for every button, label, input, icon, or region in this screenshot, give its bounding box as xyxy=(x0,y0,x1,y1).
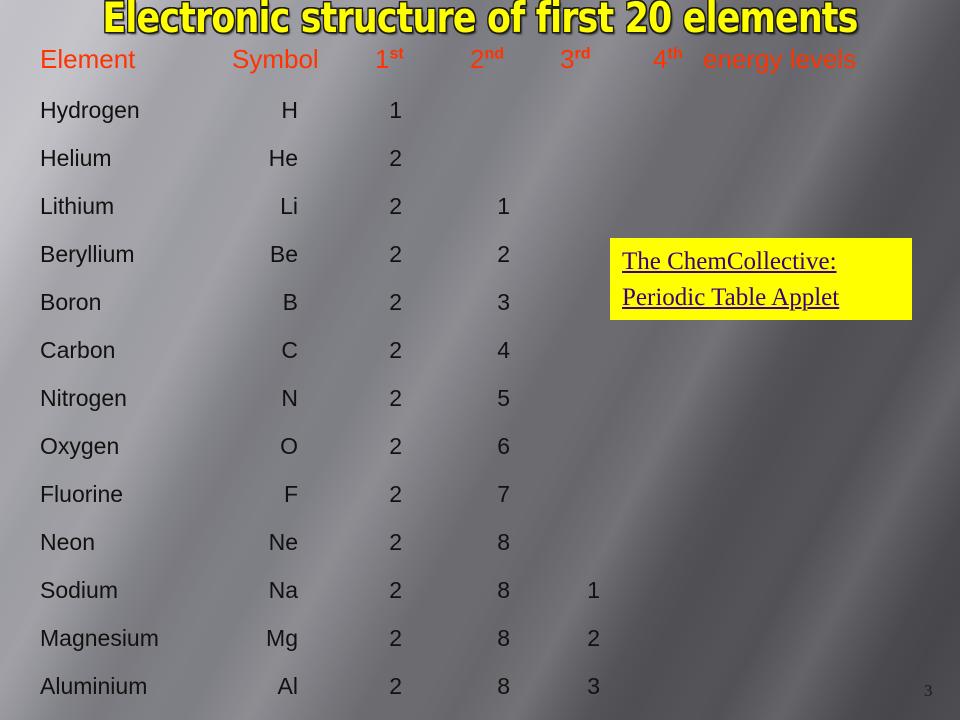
element-name: Magnesium xyxy=(40,614,159,662)
element-symbol: Li xyxy=(180,182,298,230)
element-table: Hydrogen H 1 Helium He 2 Lithium Li 2 1 xyxy=(0,86,960,710)
shell-3-electrons: 1 xyxy=(520,566,600,614)
element-symbol: N xyxy=(180,374,298,422)
shell-3-electrons: 3 xyxy=(520,662,600,710)
table-row: Hydrogen H 1 xyxy=(0,86,960,134)
column-header-second-level: 2nd xyxy=(470,42,504,76)
shell-1-electrons: 2 xyxy=(330,182,402,230)
element-name: Beryllium xyxy=(40,230,135,278)
element-name: Helium xyxy=(40,134,112,182)
shell-2-electrons: 6 xyxy=(430,422,510,470)
element-symbol: Na xyxy=(180,566,298,614)
slide-content: Electronic structure of first 20 element… xyxy=(0,0,960,720)
table-row: Helium He 2 xyxy=(0,134,960,182)
table-row: Nitrogen N 2 5 xyxy=(0,374,960,422)
shell-1-electrons: 2 xyxy=(330,134,402,182)
shell-1-electrons: 2 xyxy=(330,470,402,518)
element-name: Sodium xyxy=(40,566,118,614)
element-name: Hydrogen xyxy=(40,86,140,134)
element-symbol: H xyxy=(180,86,298,134)
shell-2-electrons: 5 xyxy=(430,374,510,422)
table-row: Sodium Na 2 8 1 xyxy=(0,566,960,614)
shell-1-electrons: 2 xyxy=(330,662,402,710)
element-name: Lithium xyxy=(40,182,114,230)
shell-2-electrons: 7 xyxy=(430,470,510,518)
column-header-first-number: 1 xyxy=(375,44,389,74)
column-header-first-ordinal: st xyxy=(389,44,403,62)
element-name: Aluminium xyxy=(40,662,147,710)
element-symbol: He xyxy=(180,134,298,182)
element-name: Carbon xyxy=(40,326,115,374)
shell-2-electrons: 8 xyxy=(430,566,510,614)
page-title: Electronic structure of first 20 element… xyxy=(82,0,879,42)
table-row: Neon Ne 2 8 xyxy=(0,518,960,566)
table-header-row: Element Symbol 1st 2nd 3rd 4th energy le… xyxy=(0,42,960,76)
shell-1-electrons: 1 xyxy=(330,86,402,134)
element-symbol: Al xyxy=(180,662,298,710)
column-header-symbol: Symbol xyxy=(232,42,319,76)
column-header-energy-levels: energy levels xyxy=(703,42,856,76)
shell-2-electrons: 1 xyxy=(430,182,510,230)
column-header-second-number: 2 xyxy=(470,44,484,74)
shell-1-electrons: 2 xyxy=(330,518,402,566)
element-symbol: Be xyxy=(180,230,298,278)
element-symbol: C xyxy=(180,326,298,374)
table-row: Aluminium Al 2 8 3 xyxy=(0,662,960,710)
column-header-fourth-ordinal: th xyxy=(667,44,682,62)
element-symbol: F xyxy=(180,470,298,518)
shell-2-electrons: 8 xyxy=(430,662,510,710)
chemcollective-link-line-1[interactable]: The ChemCollective: xyxy=(622,244,902,280)
column-header-second-ordinal: nd xyxy=(484,44,504,62)
shell-3-electrons: 2 xyxy=(520,614,600,662)
element-symbol: Ne xyxy=(180,518,298,566)
chemcollective-link-line-2[interactable]: Periodic Table Applet xyxy=(622,280,902,316)
table-row: Magnesium Mg 2 8 2 xyxy=(0,614,960,662)
element-symbol: Mg xyxy=(180,614,298,662)
element-name: Oxygen xyxy=(40,422,119,470)
shell-1-electrons: 2 xyxy=(330,374,402,422)
chemcollective-link-box[interactable]: The ChemCollective: Periodic Table Apple… xyxy=(610,238,912,320)
element-symbol: O xyxy=(180,422,298,470)
column-header-fourth-number: 4 xyxy=(653,44,667,74)
element-name: Fluorine xyxy=(40,470,123,518)
shell-2-electrons: 8 xyxy=(430,614,510,662)
element-name: Neon xyxy=(40,518,95,566)
table-row: Carbon C 2 4 xyxy=(0,326,960,374)
column-header-first-level: 1st xyxy=(375,42,404,76)
shell-1-electrons: 2 xyxy=(330,278,402,326)
shell-2-electrons: 4 xyxy=(430,326,510,374)
shell-2-electrons: 8 xyxy=(430,518,510,566)
shell-1-electrons: 2 xyxy=(330,566,402,614)
slide-canvas: Electronic structure of first 20 element… xyxy=(0,0,960,720)
column-header-third-ordinal: rd xyxy=(574,44,590,62)
shell-1-electrons: 2 xyxy=(330,326,402,374)
table-row: Oxygen O 2 6 xyxy=(0,422,960,470)
shell-2-electrons: 3 xyxy=(430,278,510,326)
shell-2-electrons: 2 xyxy=(430,230,510,278)
table-row: Lithium Li 2 1 xyxy=(0,182,960,230)
shell-1-electrons: 2 xyxy=(330,230,402,278)
column-header-third-level: 3rd xyxy=(560,42,591,76)
slide-number: 3 xyxy=(924,680,933,702)
column-header-element: Element xyxy=(40,42,135,76)
element-name: Boron xyxy=(40,278,101,326)
element-name: Nitrogen xyxy=(40,374,127,422)
element-symbol: B xyxy=(180,278,298,326)
column-header-third-number: 3 xyxy=(560,44,574,74)
shell-1-electrons: 2 xyxy=(330,422,402,470)
column-header-fourth-level: 4th xyxy=(653,42,683,76)
shell-1-electrons: 2 xyxy=(330,614,402,662)
table-row: Fluorine F 2 7 xyxy=(0,470,960,518)
